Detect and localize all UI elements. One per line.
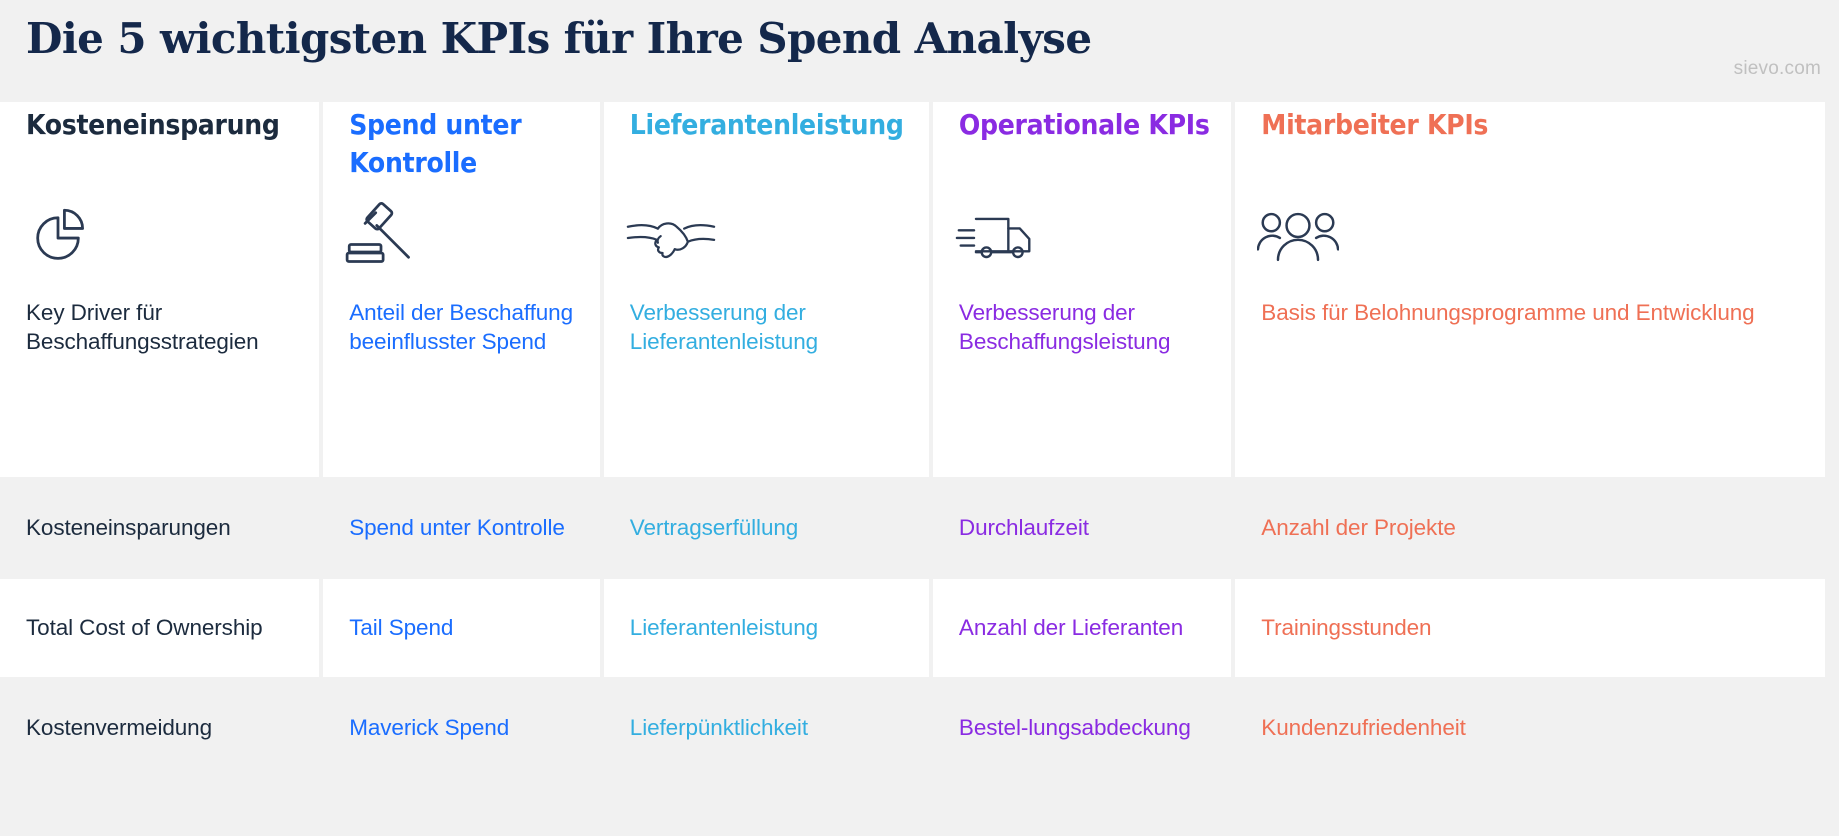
cell-value: Kundenzufriedenheit: [1261, 679, 1811, 777]
cell-value: Lieferpünktlichkeit: [630, 679, 915, 777]
right-margin: [1825, 679, 1839, 777]
handshake-icon: [626, 212, 716, 264]
cell-value: Spend unter Kontrolle: [349, 479, 586, 577]
table-row: Kosteneinsparungen Spend unter Kontrolle…: [0, 479, 1839, 577]
table-cell: Maverick Spend: [323, 679, 600, 777]
title-band: Die 5 wichtigsten KPIs für Ihre Spend An…: [0, 0, 1839, 102]
cell-value: Vertragserfüllung: [630, 479, 915, 577]
right-margin: [1825, 579, 1839, 677]
table-cell: Lieferpünktlichkeit: [604, 679, 929, 777]
cell-value: Bestel-lungsabdeckung: [959, 679, 1217, 777]
page-title: Die 5 wichtigsten KPIs für Ihre Spend An…: [26, 14, 1091, 63]
cell-value: Kostenvermeidung: [26, 679, 305, 777]
table-cell: Kostenvermeidung: [0, 679, 319, 777]
column-header-4: Operationale KPIs: [959, 106, 1217, 144]
cell-value: Total Cost of Ownership: [26, 579, 305, 677]
source-watermark: sievo.com: [1734, 58, 1821, 80]
right-margin: [1825, 102, 1839, 477]
table-cell: Lieferantenleistung: [604, 579, 929, 677]
table-row: Total Cost of Ownership Tail Spend Liefe…: [0, 579, 1839, 677]
cell-value: Maverick Spend: [349, 679, 586, 777]
people-group-icon: [1257, 206, 1339, 266]
kpi-column-operationale-kpis: Operationale KPIs Verbesserung der: [933, 102, 1231, 477]
table-cell: Anzahl der Lieferanten: [933, 579, 1231, 677]
cell-value: Trainingsstunden: [1261, 579, 1811, 677]
table-cell: Tail Spend: [323, 579, 600, 677]
delivery-truck-icon: [955, 210, 1035, 264]
column-description-4: Verbesserung der Beschaffungsleistung: [959, 298, 1209, 356]
cell-value: Durchlaufzeit: [959, 479, 1217, 577]
pie-chart-icon: [22, 206, 94, 268]
column-description-2: Anteil der Beschaffung beeinflusster Spe…: [349, 298, 578, 356]
table-cell: Bestel-lungsabdeckung: [933, 679, 1231, 777]
kpi-column-lieferantenleistung: Lieferantenleistung Verbesserung der Lie…: [604, 102, 929, 477]
kpi-column-kosteneinsparung: Kosteneinsparung Key Driver für Beschaff…: [0, 102, 319, 477]
table-cell: Vertragserfüllung: [604, 479, 929, 577]
table-cell: Kundenzufriedenheit: [1235, 679, 1825, 777]
table-cell: Anzahl der Projekte: [1235, 479, 1825, 577]
column-description-5: Basis für Belohnungsprogramme und Entwic…: [1261, 298, 1803, 327]
cell-value: Tail Spend: [349, 579, 586, 677]
kpi-grid: Kosteneinsparung Key Driver für Beschaff…: [0, 102, 1839, 836]
table-cell: Trainingsstunden: [1235, 579, 1825, 677]
table-cell: Total Cost of Ownership: [0, 579, 319, 677]
right-margin: [1825, 479, 1839, 577]
table-cell: Spend unter Kontrolle: [323, 479, 600, 577]
cell-value: Anzahl der Lieferanten: [959, 579, 1217, 677]
table-cell: Kosteneinsparungen: [0, 479, 319, 577]
kpi-column-spend-unter-kontrolle: Spend unter Kontrolle Anteil der Beschaf…: [323, 102, 600, 477]
infographic-page: Die 5 wichtigsten KPIs für Ihre Spend An…: [0, 0, 1839, 836]
column-description-3: Verbesserung der Lieferantenleistung: [630, 298, 907, 356]
gavel-icon: [345, 200, 417, 270]
kpi-header-row: Kosteneinsparung Key Driver für Beschaff…: [0, 102, 1839, 477]
column-description-1: Key Driver für Beschaffungsstrategien: [26, 298, 297, 356]
table-cell: Durchlaufzeit: [933, 479, 1231, 577]
column-header-1: Kosteneinsparung: [26, 106, 305, 144]
kpi-column-mitarbeiter-kpis: Mitarbeiter KPIs Basis für Belohnungspro…: [1235, 102, 1825, 477]
cell-value: Kosteneinsparungen: [26, 479, 305, 577]
cell-value: Anzahl der Projekte: [1261, 479, 1811, 577]
column-header-5: Mitarbeiter KPIs: [1261, 106, 1811, 144]
cell-value: Lieferantenleistung: [630, 579, 915, 677]
column-header-2: Spend unter Kontrolle: [349, 106, 586, 182]
table-row: Kostenvermeidung Maverick Spend Lieferpü…: [0, 679, 1839, 777]
column-header-3: Lieferantenleistung: [630, 106, 915, 144]
